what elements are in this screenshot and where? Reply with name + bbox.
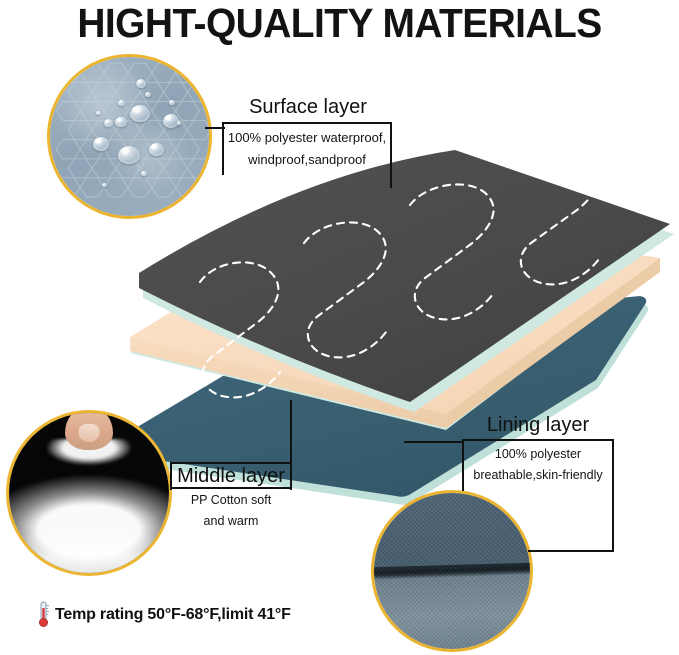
callout-middle-line-1: PP Cotton soft	[170, 490, 292, 511]
callout-surface-line-1: 100% polyester waterproof,	[224, 127, 390, 149]
callout-middle-line-2: and warm	[170, 511, 292, 532]
honeycomb-texture	[50, 57, 209, 216]
water-droplet	[118, 146, 140, 164]
water-droplet	[102, 183, 107, 187]
water-droplet	[177, 121, 181, 125]
temp-rating-label: Temp rating 50°F-68°F,limit 41°F	[55, 606, 291, 624]
leader-line-lining-to-photo	[528, 550, 614, 552]
cotton-fiber-tuft	[6, 439, 172, 576]
thermometer-icon	[36, 601, 51, 628]
callout-surface-line-2: windproof,sandproof	[224, 149, 390, 171]
water-droplet	[149, 143, 164, 156]
temp-rating-row: Temp rating 50°F-68°F,limit 41°F	[36, 601, 291, 628]
pp-cotton-fiber-photo	[6, 410, 172, 576]
callout-surface-box: 100% polyester waterproof, windproof,san…	[222, 122, 392, 175]
callout-middle-heading: Middle layer	[170, 462, 292, 490]
water-droplet	[104, 119, 113, 127]
callout-lining-box: 100% polyester breathable,skin-friendly	[462, 439, 614, 491]
callout-middle-body: PP Cotton soft and warm	[170, 490, 292, 532]
callout-surface-heading: Surface layer	[222, 96, 394, 119]
callout-lining-line-2: breathable,skin-friendly	[464, 465, 612, 486]
lining-fabric-photo	[371, 490, 533, 652]
callout-lining-layer: Lining layer 100% polyester breathable,s…	[462, 414, 614, 491]
callout-surface-layer: Surface layer 100% polyester waterproof,…	[222, 96, 394, 175]
callout-lining-heading: Lining layer	[462, 414, 614, 437]
callout-lining-line-1: 100% polyester	[464, 444, 612, 465]
water-droplet	[130, 105, 150, 122]
callout-middle-layer: Middle layer PP Cotton soft and warm	[170, 462, 292, 532]
leader-line-middle-vertical	[290, 400, 292, 464]
infographic-canvas: HIGHT-QUALITY MATERIALS	[0, 0, 679, 655]
fingernail	[79, 424, 100, 442]
water-droplets-fabric-photo	[47, 54, 212, 219]
leader-line-lining-horizontal	[404, 441, 464, 443]
water-droplet	[93, 137, 109, 151]
water-droplet	[136, 79, 146, 88]
callout-lining-body: 100% polyester breathable,skin-friendly	[464, 444, 612, 486]
callout-surface-body: 100% polyester waterproof, windproof,san…	[224, 127, 390, 171]
